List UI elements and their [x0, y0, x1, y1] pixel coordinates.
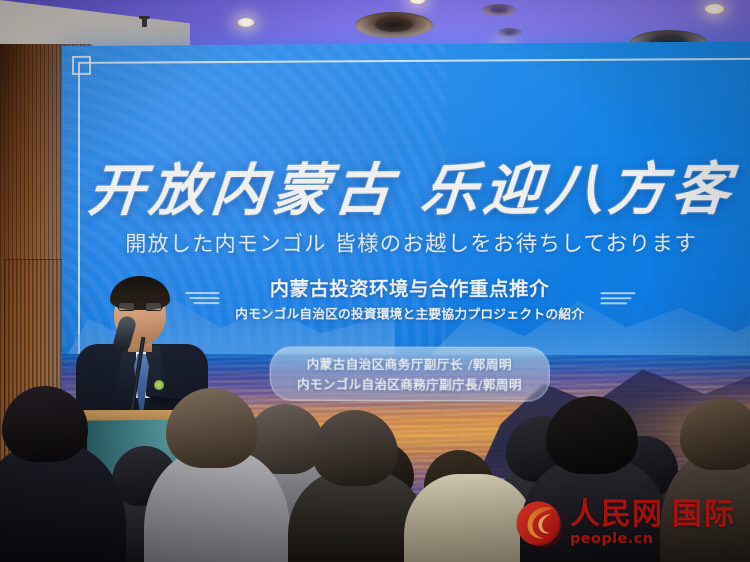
- speaker-title-cn: 内蒙古自治区商务厅副厅长 /郭周明: [297, 353, 522, 373]
- decor-lines-right: [601, 292, 636, 304]
- slide-subtitle-japanese: 開放した内モンゴル 皆様のお越しをお待ちしております: [62, 227, 750, 258]
- air-vent-icon: [482, 4, 516, 16]
- watermark-brand-section: 国际: [672, 500, 736, 530]
- sprinkler-icon: [142, 18, 147, 27]
- watermark-brand-en: people.cn: [570, 531, 736, 547]
- watermark-logo: 人民网 国际 people.cn: [515, 496, 736, 550]
- audience-member: [546, 396, 638, 474]
- watermark-brand-cn: 人民网: [570, 500, 663, 530]
- watermark-row: 人民网 国际: [570, 500, 736, 530]
- audience-member: [2, 386, 88, 462]
- watermark-text: 人民网 国际 people.cn: [570, 500, 736, 547]
- air-vent-icon: [498, 28, 522, 37]
- slide-section-text: 内蒙古投资环境与合作重点推介 内モンゴル自治区の投資環境と主要協力プロジェクトの…: [235, 274, 584, 323]
- slide-section-title-jp: 内モンゴル自治区の投資環境と主要協力プロジェクトの紹介: [235, 303, 584, 322]
- eyeglasses-icon: [118, 302, 162, 311]
- slide-section-title-cn: 内蒙古投资环境与合作重点推介: [235, 274, 584, 301]
- air-vent-icon: [355, 12, 433, 38]
- people-cn-logo-icon: [515, 500, 562, 547]
- audience-member: [312, 410, 398, 486]
- audience-member: [0, 444, 126, 562]
- screenshot-stage: 开放内蒙古 乐迎八方客 開放した内モンゴル 皆様のお越しをお待ちしております 内…: [0, 0, 750, 562]
- audience-member: [166, 388, 258, 468]
- downlight-icon: [238, 18, 254, 27]
- audience-member: [680, 398, 750, 470]
- slide-main-title: 开放内蒙古 乐迎八方客: [62, 143, 750, 227]
- downlight-icon: [705, 4, 724, 14]
